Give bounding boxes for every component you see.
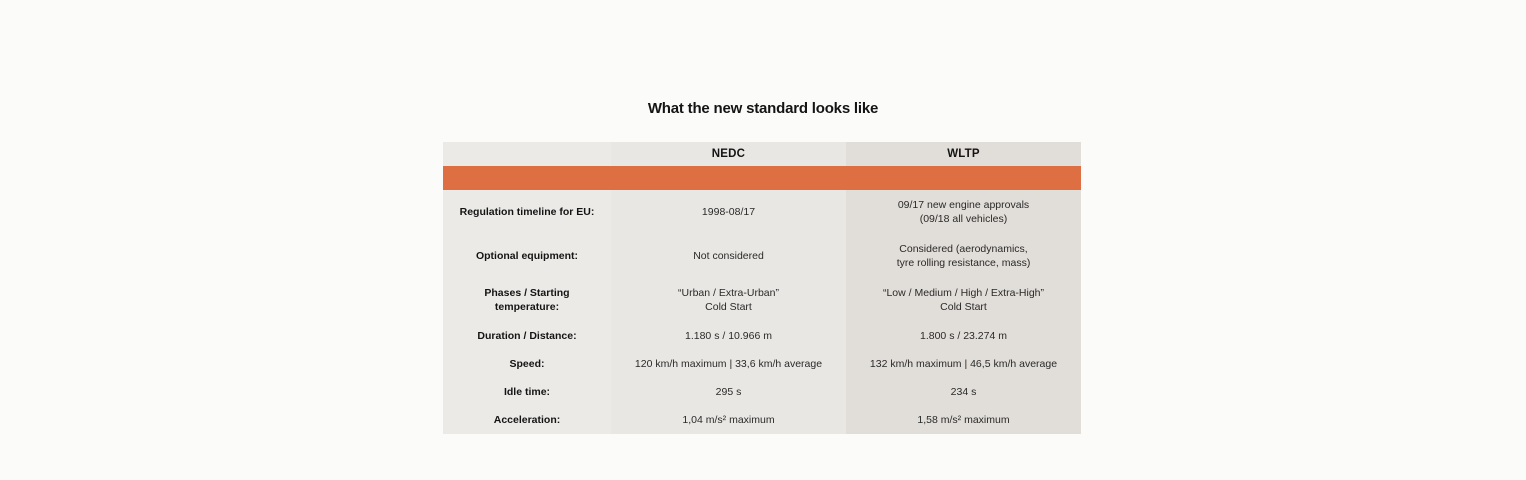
cell-line-2: tyre rolling resistance, mass) [846, 256, 1081, 270]
row-label-duration-distance: Duration / Distance: [443, 322, 611, 350]
label-line-2: temperature: [451, 300, 603, 314]
table-row: Duration / Distance: 1.180 s / 10.966 m … [443, 322, 1081, 350]
cell-line-1: 09/17 new engine approvals [846, 198, 1081, 212]
cell-wltp-speed: 132 km/h maximum | 46,5 km/h average [846, 350, 1081, 378]
table-row: Phases / Starting temperature: “Urban / … [443, 278, 1081, 322]
row-label-acceleration: Acceleration: [443, 406, 611, 434]
table-row: Idle time: 295 s 234 s [443, 378, 1081, 406]
table-header: NEDC WLTP [443, 142, 1081, 190]
nedc-wltp-comparison-table: NEDC WLTP Regulation timeline for EU: 19… [443, 142, 1081, 434]
accent-line [443, 166, 1081, 190]
cell-wltp-idle-time: 234 s [846, 378, 1081, 406]
row-label-phases-starting-temperature: Phases / Starting temperature: [443, 278, 611, 322]
cell-wltp-acceleration: 1,58 m/s² maximum [846, 406, 1081, 434]
page-title: What the new standard looks like [0, 99, 1526, 119]
cell-wltp-phases: “Low / Medium / High / Extra-High” Cold … [846, 278, 1081, 322]
cell-line-1: Not considered [611, 249, 846, 263]
comparison-table-container: NEDC WLTP Regulation timeline for EU: 19… [443, 142, 1081, 434]
cell-nedc-phases: “Urban / Extra-Urban” Cold Start [611, 278, 846, 322]
column-header-wltp: WLTP [846, 142, 1081, 166]
label-line-1: Phases / Starting [451, 286, 603, 300]
cell-wltp-optional-equipment: Considered (aerodynamics, tyre rolling r… [846, 234, 1081, 278]
table-body: Regulation timeline for EU: 1998-08/17 0… [443, 190, 1081, 434]
cell-nedc-acceleration: 1,04 m/s² maximum [611, 406, 846, 434]
row-label-idle-time: Idle time: [443, 378, 611, 406]
column-header-label [443, 142, 611, 166]
cell-nedc-duration-distance: 1.180 s / 10.966 m [611, 322, 846, 350]
row-label-regulation-timeline: Regulation timeline for EU: [443, 190, 611, 234]
header-accent-rule [443, 166, 1081, 190]
cell-line-2: (09/18 all vehicles) [846, 212, 1081, 226]
row-label-speed: Speed: [443, 350, 611, 378]
cell-line-1: “Urban / Extra-Urban” [611, 286, 846, 300]
cell-line-1: Considered (aerodynamics, [846, 242, 1081, 256]
table-header-row: NEDC WLTP [443, 142, 1081, 166]
cell-nedc-regulation-timeline: 1998-08/17 [611, 190, 846, 234]
cell-nedc-speed: 120 km/h maximum | 33,6 km/h average [611, 350, 846, 378]
cell-line-2: Cold Start [611, 300, 846, 314]
cell-line-1: 1998-08/17 [611, 205, 846, 219]
cell-line-1: “Low / Medium / High / Extra-High” [846, 286, 1081, 300]
column-header-nedc: NEDC [611, 142, 846, 166]
table-row: Optional equipment: Not considered Consi… [443, 234, 1081, 278]
table-row: Acceleration: 1,04 m/s² maximum 1,58 m/s… [443, 406, 1081, 434]
cell-line-2: Cold Start [846, 300, 1081, 314]
row-label-optional-equipment: Optional equipment: [443, 234, 611, 278]
page-root: What the new standard looks like NEDC WL… [0, 0, 1526, 480]
table-row: Regulation timeline for EU: 1998-08/17 0… [443, 190, 1081, 234]
cell-wltp-regulation-timeline: 09/17 new engine approvals (09/18 all ve… [846, 190, 1081, 234]
cell-nedc-idle-time: 295 s [611, 378, 846, 406]
cell-nedc-optional-equipment: Not considered [611, 234, 846, 278]
cell-wltp-duration-distance: 1.800 s / 23.274 m [846, 322, 1081, 350]
table-row: Speed: 120 km/h maximum | 33,6 km/h aver… [443, 350, 1081, 378]
